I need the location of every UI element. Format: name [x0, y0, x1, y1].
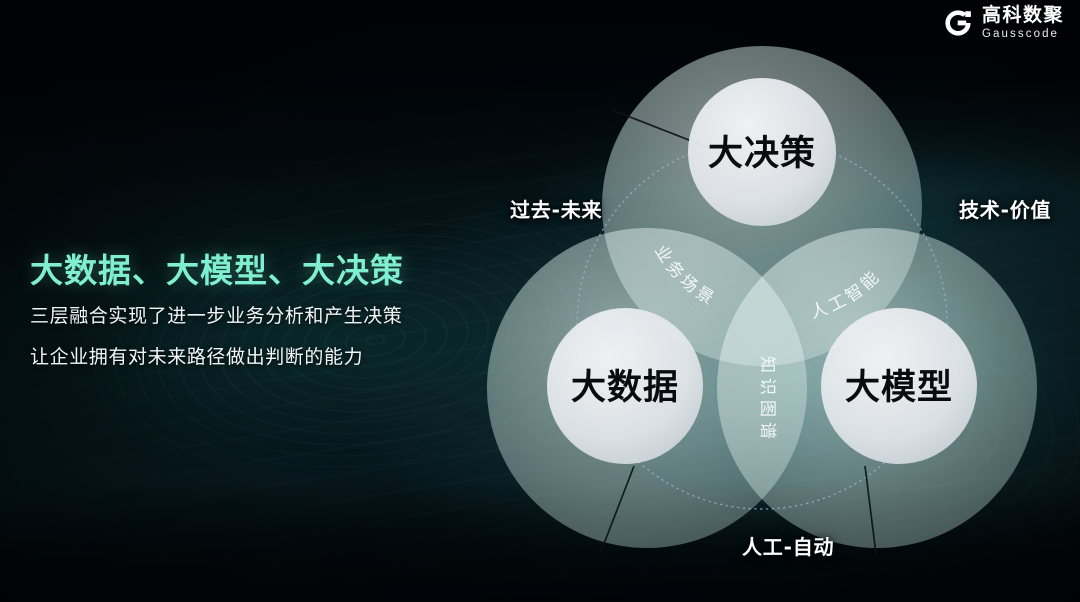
brand-name-en: Gausscode: [982, 29, 1064, 41]
axis-label-past-future: 过去-未来: [510, 194, 602, 223]
subtitle-line-1: 三层融合实现了进一步业务分析和产生决策: [30, 307, 470, 326]
venn-intersection-knowledge-graph: 知识图谱: [757, 356, 777, 444]
subtitle-line-2: 让企业拥有对未来路径做出判断的能力: [30, 348, 470, 367]
axis-label-tech-value: 技术-价值: [959, 194, 1051, 223]
left-text-block: 大数据、大模型、大决策 三层融合实现了进一步业务分析和产生决策 让企业拥有对未来…: [30, 252, 470, 367]
brand-logo: 高科数聚 Gausscode: [943, 6, 1064, 41]
venn-label-bigmodel: 大模型: [845, 368, 953, 408]
venn-diagram: 大决策 大数据 大模型 业务场景 人工智能 知识图谱: [472, 18, 1052, 584]
gausscode-g-logo-icon: [943, 8, 973, 38]
brand-logo-text: 高科数聚 Gausscode: [982, 6, 1064, 41]
venn-label-bigdata: 大数据: [571, 368, 679, 408]
slide-canvas: 高科数聚 Gausscode 大数据、大模型、大决策 三层融合实现了进一步业务分…: [0, 0, 1080, 602]
page-headline: 大数据、大模型、大决策: [30, 252, 470, 291]
venn-label-decision: 大决策: [708, 134, 816, 174]
axis-label-manual-auto: 人工-自动: [742, 531, 834, 560]
brand-name-cn: 高科数聚: [982, 6, 1064, 25]
